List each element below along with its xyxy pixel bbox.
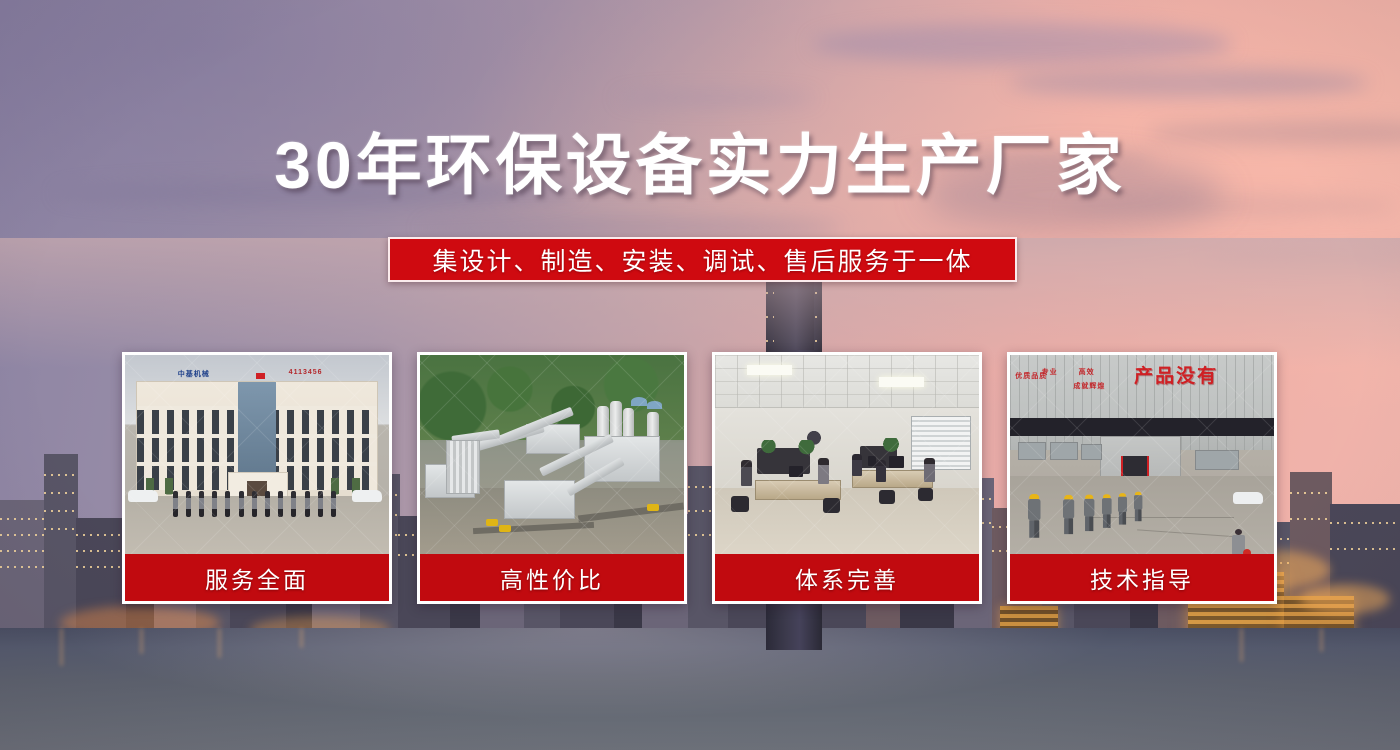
card-photo-plant-aerial <box>420 355 684 557</box>
card-photo-worker-training: 产品没有 优质品质 专业 高效 成就辉煌 <box>1010 355 1274 557</box>
banner-headline: 30年环保设备实力生产厂家 <box>0 132 1400 198</box>
feature-card[interactable]: 中基机械 4113456 <box>122 352 392 604</box>
building-phone-text: 4113456 <box>289 369 323 376</box>
banner-stage: 30年环保设备实力生产厂家 集设计、制造、安装、调试、售后服务于一体 <box>0 0 1400 750</box>
factory-slogan-small: 高效 <box>1079 369 1095 378</box>
feature-card-row: 中基机械 4113456 <box>0 352 1400 604</box>
card-caption-text: 体系完善 <box>795 561 899 595</box>
card-caption: 技术指导 <box>1010 554 1274 601</box>
factory-slogan-small: 专业 <box>1042 369 1058 378</box>
factory-slogan-small: 成就辉煌 <box>1073 383 1105 392</box>
cloud <box>420 218 840 238</box>
banner-subtitle-bar: 集设计、制造、安装、调试、售后服务于一体 <box>388 237 1017 282</box>
feature-card[interactable]: 体系完善 <box>712 352 982 604</box>
card-caption-text: 服务全面 <box>205 561 309 595</box>
card-caption-text: 高性价比 <box>500 561 604 595</box>
car <box>1233 492 1263 504</box>
cloud <box>616 90 816 106</box>
water-sheen <box>0 628 1400 750</box>
river-water <box>0 628 1400 750</box>
banner-subtitle-text: 集设计、制造、安装、调试、售后服务于一体 <box>432 242 972 278</box>
card-photo-office-interior <box>715 355 979 557</box>
card-caption-text: 技术指导 <box>1090 561 1194 595</box>
card-photo-office-building: 中基机械 4113456 <box>125 355 389 557</box>
feature-card[interactable]: 高性价比 <box>417 352 687 604</box>
building-sign-text: 中基机械 <box>178 369 210 379</box>
feature-card[interactable]: 产品没有 优质品质 专业 高效 成就辉煌 <box>1007 352 1277 604</box>
cloud <box>812 23 1232 65</box>
cloud <box>1008 68 1368 98</box>
card-caption: 体系完善 <box>715 554 979 601</box>
card-caption: 服务全面 <box>125 554 389 601</box>
window-blinds <box>911 416 971 471</box>
card-caption: 高性价比 <box>420 554 684 601</box>
factory-slogan-large: 产品没有 <box>1134 361 1218 388</box>
flag-icon <box>256 373 265 379</box>
wall-vent-strip <box>1010 418 1274 436</box>
